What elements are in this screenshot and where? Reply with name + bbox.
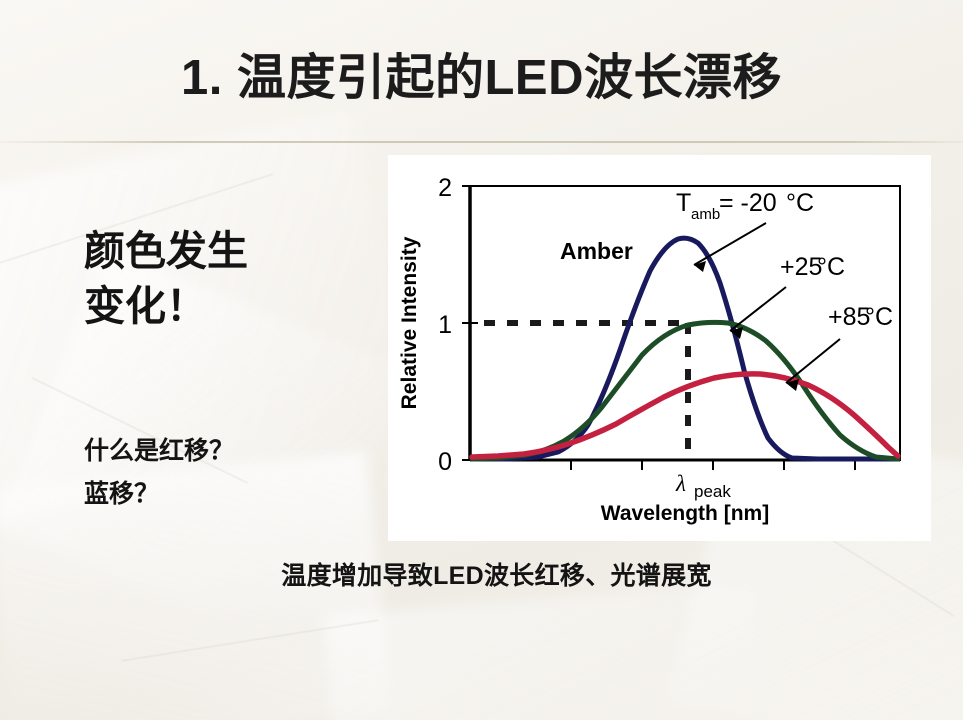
annotation-plus85c-degree: °C — [865, 303, 893, 331]
slide-canvas: 1. 温度引起的LED波长漂移 颜色发生 变化！ 什么是红移？ 蓝移？ — [0, 0, 963, 720]
lead-statement: 颜色发生 变化！ — [84, 224, 248, 334]
spectrum-chart-svg: 2 1 0 Relative Intensity Wavelength [nm]… — [388, 155, 931, 541]
annotation-minus20c-subscript: amb — [691, 206, 720, 223]
annotation-minus20c-main: T — [676, 189, 691, 217]
spectrum-chart: 2 1 0 Relative Intensity Wavelength [nm]… — [388, 155, 931, 541]
lead-statement-line-2: 变化！ — [84, 279, 248, 334]
chart-caption-text: 温度增加导致LED波长红移、光谱展宽 — [251, 562, 711, 590]
x-axis-title: Wavelength [nm] — [601, 502, 769, 525]
y-tick-label-0: 0 — [438, 448, 452, 476]
spectrum-chart-card: 2 1 0 Relative Intensity Wavelength [nm]… — [388, 155, 931, 541]
amber-label: Amber — [560, 238, 633, 264]
lambda-peak-symbol: λ — [675, 471, 686, 496]
y-axis-title: Relative Intensity — [398, 236, 421, 409]
question-block: 什么是红移？ 蓝移？ — [84, 430, 234, 516]
slide-title: 1. 温度引起的LED波长漂移 — [0, 38, 963, 109]
lambda-peak-subscript: peak — [694, 482, 731, 501]
question-line-2: 蓝移？ — [84, 473, 234, 516]
header-divider — [0, 141, 963, 143]
y-tick-label-1: 1 — [438, 311, 452, 339]
y-tick-label-2: 2 — [438, 174, 452, 202]
annotation-plus25c-degree: °C — [817, 253, 845, 281]
annotation-minus20c-rest: = -20 — [719, 189, 777, 217]
annotation-minus20c-degree: °C — [786, 189, 814, 217]
lead-statement-line-1: 颜色发生 — [84, 228, 248, 274]
question-line-1: 什么是红移？ — [84, 430, 234, 473]
chart-caption: 温度增加导致LED波长红移、光谱展宽 — [0, 556, 963, 592]
